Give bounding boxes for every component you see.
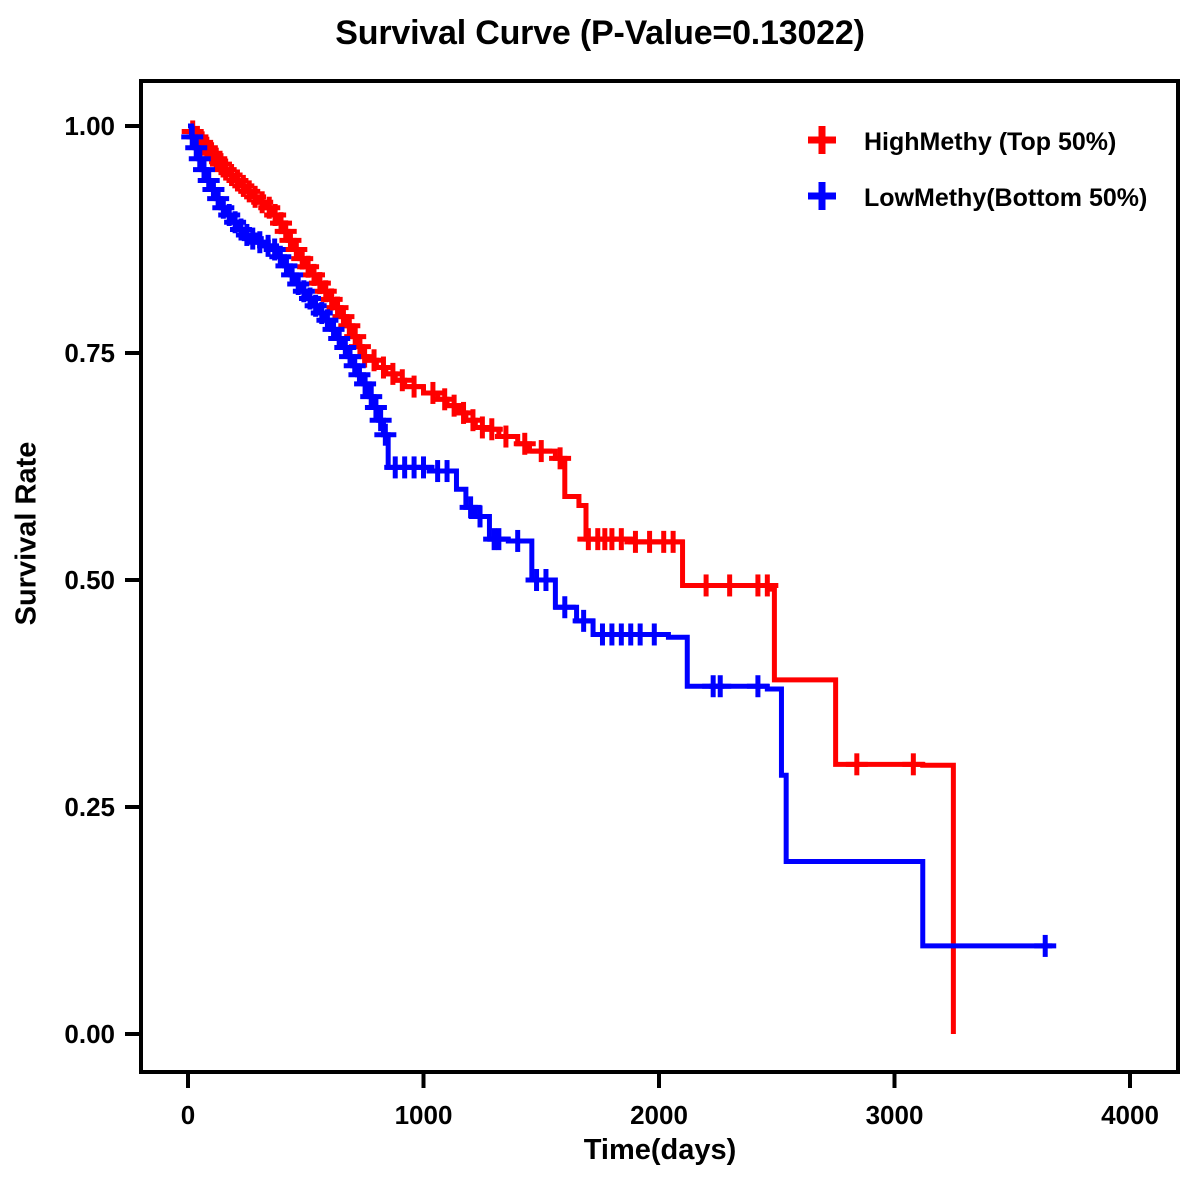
x-tick-label: 0 (181, 1100, 195, 1130)
legend-group: HighMethy (Top 50%)LowMethy(Bottom 50%) (808, 126, 1147, 212)
y-tick-label: 0.75 (64, 338, 115, 368)
ticks-group: 0.000.250.500.751.0001000200030004000 (64, 111, 1159, 1130)
x-tick-label: 4000 (1101, 1100, 1159, 1130)
y-tick-label: 0.50 (64, 565, 115, 595)
x-tick-label: 3000 (866, 1100, 924, 1130)
y-tick-label: 0.00 (64, 1019, 115, 1049)
legend-label: LowMethy(Bottom 50%) (864, 184, 1147, 212)
survival-curve-chart: Survival Curve (P-Value=0.13022) Surviva… (0, 0, 1200, 1200)
series-group (181, 120, 1056, 1034)
legend-item-low-methy[interactable]: LowMethy(Bottom 50%) (808, 182, 1147, 212)
legend-label: HighMethy (Top 50%) (864, 128, 1116, 156)
legend-item-high-methy[interactable]: HighMethy (Top 50%) (808, 126, 1116, 156)
series-high-methy (182, 120, 954, 1034)
y-tick-label: 0.25 (64, 792, 115, 822)
y-tick-label: 1.00 (64, 111, 115, 141)
x-tick-label: 2000 (630, 1100, 688, 1130)
censor-marks (182, 120, 925, 775)
y-axis-label: Survival Rate (11, 374, 44, 694)
x-tick-label: 1000 (395, 1100, 453, 1130)
chart-title: Survival Curve (P-Value=0.13022) (0, 14, 1200, 53)
plot-area: 0.000.250.500.751.0001000200030004000 Hi… (0, 0, 1200, 1200)
x-axis-label: Time(days) (141, 1134, 1179, 1167)
